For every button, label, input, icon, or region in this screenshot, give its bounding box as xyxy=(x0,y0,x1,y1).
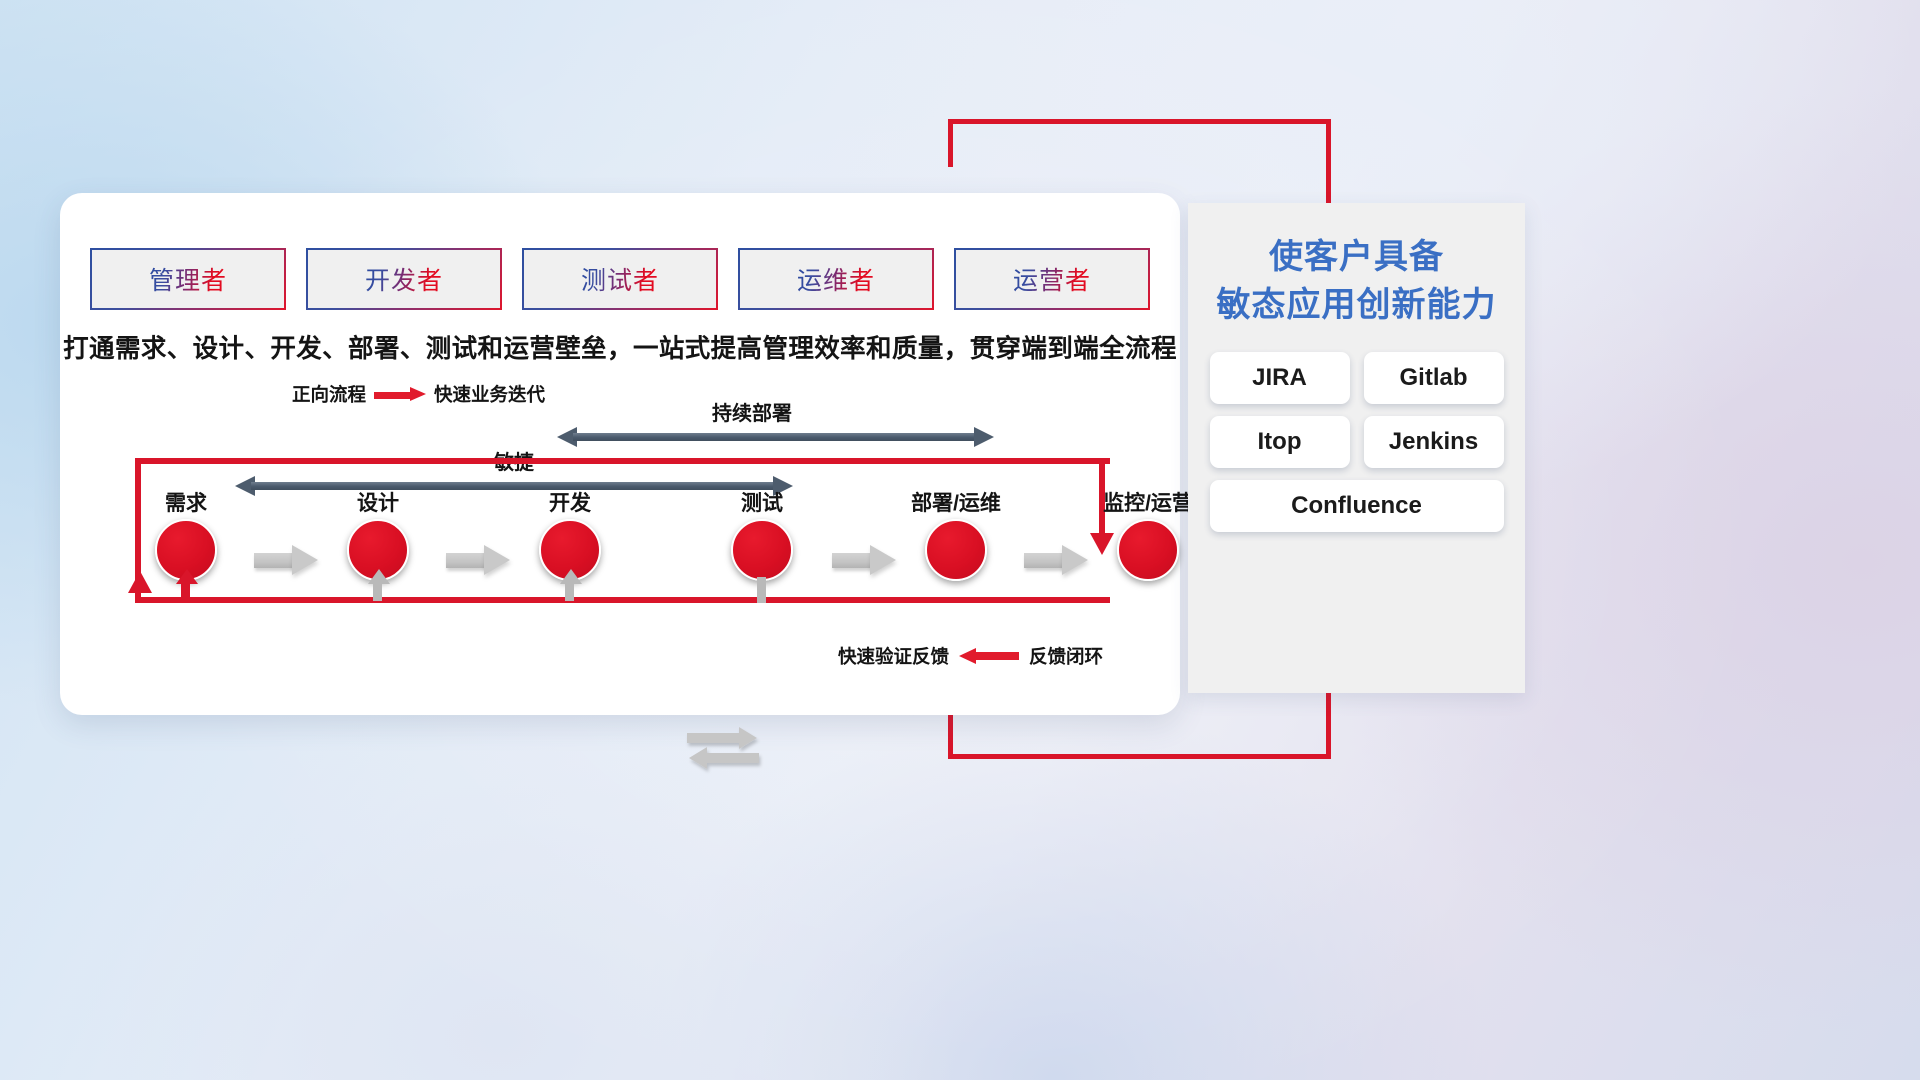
stage-label: 开发 xyxy=(510,493,630,514)
main-diagram-card: 管理者 开发者 测试者 运维者 运营者 打通需求、设计、开发、部署、测试和运营壁… xyxy=(60,193,1180,715)
red-right-arrow-icon xyxy=(374,389,426,399)
tool-item-gitlab[interactable]: Gitlab xyxy=(1364,352,1504,404)
stage-dot-icon xyxy=(925,519,987,581)
stage-design[interactable]: 设计 xyxy=(318,493,438,581)
feedback-to-label: 反馈闭环 xyxy=(1029,643,1103,669)
value-proposition-panel: 使客户具备 敏态应用创新能力 JIRA Gitlab Itop Jenkins … xyxy=(1188,203,1525,693)
stem-arrowhead-design xyxy=(368,569,390,584)
tool-list: JIRA Gitlab Itop Jenkins Confluence xyxy=(1202,352,1511,532)
role-box-manager[interactable]: 管理者 xyxy=(90,248,286,310)
stage-dot-icon xyxy=(731,519,793,581)
forward-flow-from-label: 正向流程 xyxy=(292,381,366,407)
tool-item-jenkins[interactable]: Jenkins xyxy=(1364,416,1504,468)
pipeline-stage-row: 需求 设计 开发 xyxy=(106,493,1166,613)
continuous-deployment-label: 持续部署 xyxy=(712,397,792,426)
stage-testing[interactable]: 测试 xyxy=(702,493,822,581)
stem-arrowhead-requirement xyxy=(176,569,198,584)
stage-deploy-ops[interactable]: 部署/运维 xyxy=(896,493,1016,581)
feedback-legend: 快速验证反馈 反馈闭环 xyxy=(838,643,1103,669)
role-box-developer[interactable]: 开发者 xyxy=(306,248,502,310)
role-label: 运营者 xyxy=(1013,261,1091,297)
stage-development[interactable]: 开发 xyxy=(510,493,630,581)
flow-arrow-icon-1 xyxy=(254,545,318,575)
stage-dot-icon xyxy=(1117,519,1179,581)
forward-flow-legend: 正向流程 快速业务迭代 xyxy=(292,381,545,407)
stage-label: 部署/运维 xyxy=(896,493,1016,514)
role-label: 测试者 xyxy=(581,261,659,297)
red-left-arrow-icon xyxy=(959,649,1019,663)
flow-arrow-icon-2 xyxy=(446,545,510,575)
outer-bracket-top xyxy=(948,119,1331,124)
outer-bracket-left xyxy=(948,119,953,167)
tool-item-jira[interactable]: JIRA xyxy=(1210,352,1350,404)
role-label: 开发者 xyxy=(365,261,443,297)
stem-arrowhead-development xyxy=(560,569,582,584)
description-text: 打通需求、设计、开发、部署、测试和运营壁垒，一站式提高管理效率和质量，贯穿端到端… xyxy=(60,328,1180,365)
panel-title-line1: 使客户具备 xyxy=(1269,238,1444,276)
tool-item-confluence[interactable]: Confluence xyxy=(1210,480,1504,532)
stage-label: 需求 xyxy=(126,493,246,514)
outer-bracket-bottom xyxy=(948,754,1331,759)
panel-title: 使客户具备 敏态应用创新能力 xyxy=(1188,233,1525,330)
role-box-operator[interactable]: 运营者 xyxy=(954,248,1150,310)
feedback-from-label: 快速验证反馈 xyxy=(838,643,949,669)
stage-label: 设计 xyxy=(318,493,438,514)
tool-item-itop[interactable]: Itop xyxy=(1210,416,1350,468)
stage-requirement[interactable]: 需求 xyxy=(126,493,246,581)
exchange-loop-icon xyxy=(681,727,765,775)
role-box-row: 管理者 开发者 测试者 运维者 运营者 xyxy=(90,248,1150,310)
flow-arrow-icon-3 xyxy=(832,545,896,575)
stage-label: 测试 xyxy=(702,493,822,514)
flow-arrow-icon-4 xyxy=(1024,545,1088,575)
role-box-tester[interactable]: 测试者 xyxy=(522,248,718,310)
role-box-ops[interactable]: 运维者 xyxy=(738,248,934,310)
panel-title-line2: 敏态应用创新能力 xyxy=(1188,281,1525,329)
continuous-deployment-arrow-icon xyxy=(557,427,994,447)
loop-path-top xyxy=(135,458,1110,464)
role-label: 管理者 xyxy=(149,261,227,297)
forward-flow-to-label: 快速业务迭代 xyxy=(434,381,545,407)
role-label: 运维者 xyxy=(797,261,875,297)
stem-testing xyxy=(757,577,766,603)
